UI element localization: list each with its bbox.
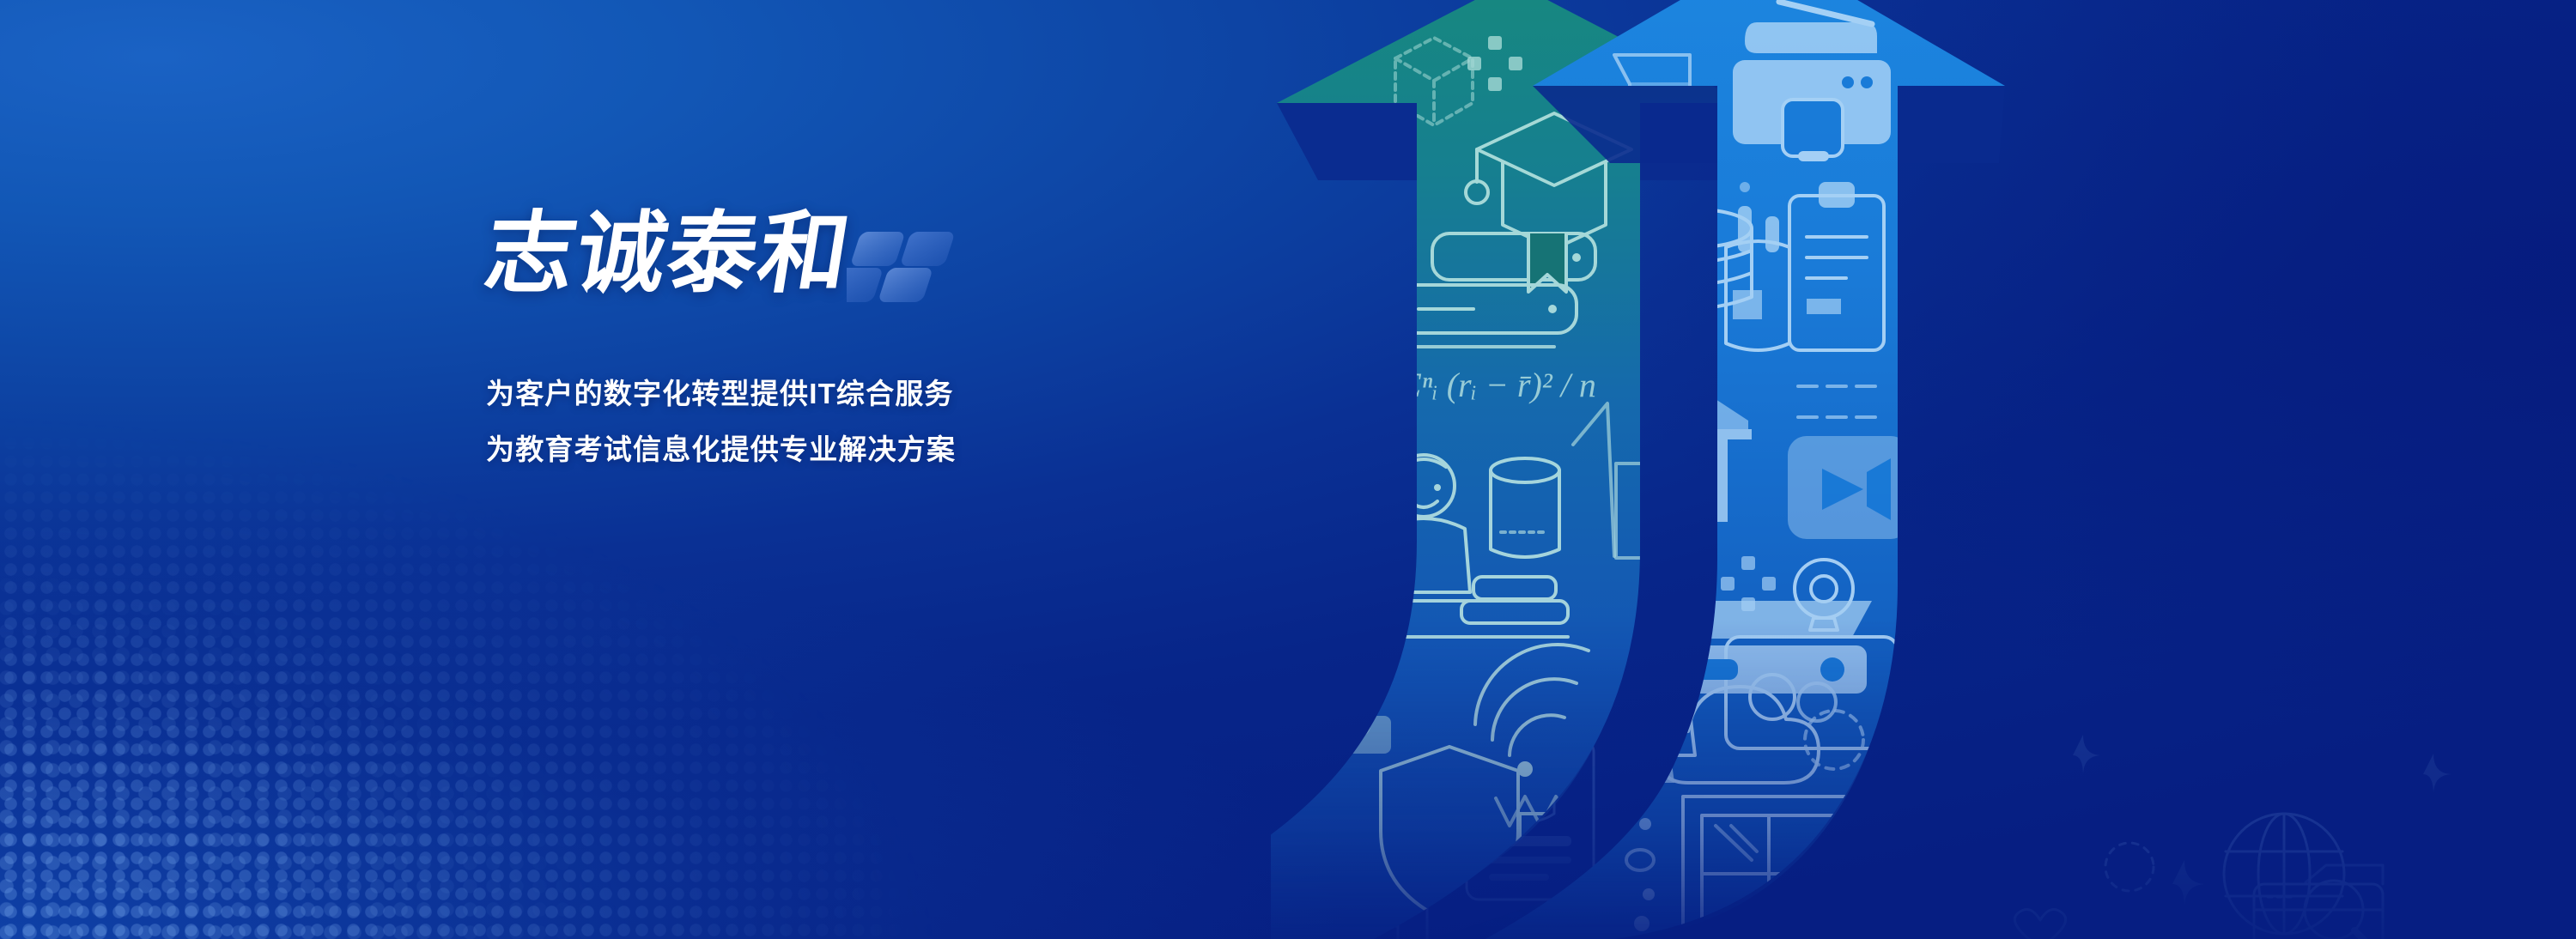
- tagline-1: 为客户的数字化转型提供IT综合服务: [486, 379, 1087, 408]
- hero-banner: Σⁿᵢ (rᵢ − r̄)² / n: [0, 0, 2576, 939]
- four-parallelogram-logo-mark: [847, 228, 993, 311]
- tagline-2: 为教育考试信息化提供专业解决方案: [486, 435, 1087, 463]
- hero-text-block: 志诚泰和: [486, 206, 1087, 463]
- brand-row: 志诚泰和: [486, 206, 1087, 316]
- page-title: 志诚泰和: [478, 206, 858, 302]
- halftone-dot-field-large: [0, 481, 653, 939]
